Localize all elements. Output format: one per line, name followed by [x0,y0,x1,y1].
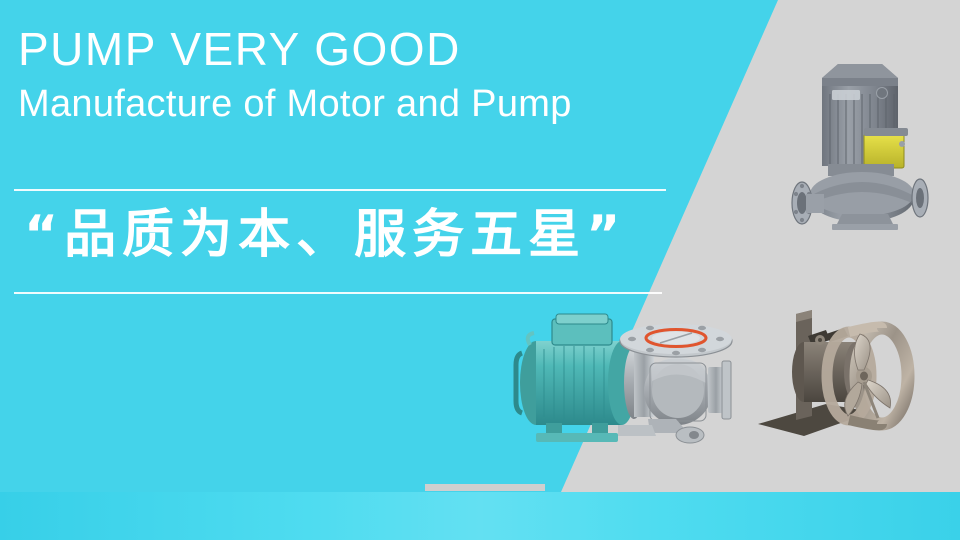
divider-top [14,189,666,191]
page-title: PUMP VERY GOOD [18,22,718,76]
page-subtitle: Manufacture of Motor and Pump [18,82,718,128]
product-image-submersible-mixer [752,300,947,450]
divider-bottom [14,292,662,294]
bottom-color-bar [0,492,960,540]
headline-block: PUMP VERY GOOD Manufacture of Motor and … [18,22,718,128]
slogan-text: “品质为本、服务五星” [24,200,626,270]
product-image-vertical-inline-pump [770,48,950,233]
bottom-accent-tab [425,484,545,491]
product-image-horizontal-motor-pump [500,305,750,465]
promo-banner: PUMP VERY GOOD Manufacture of Motor and … [0,0,960,540]
